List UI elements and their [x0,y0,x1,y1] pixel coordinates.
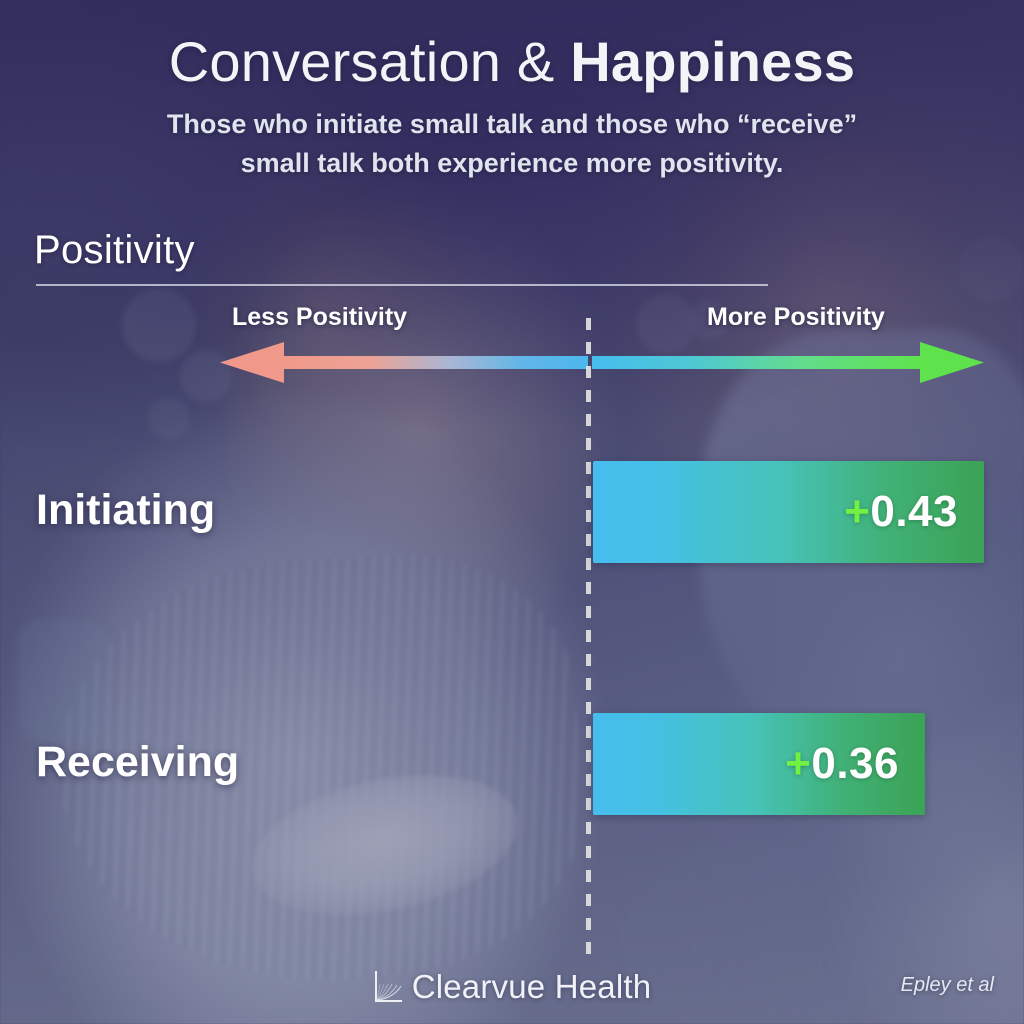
clearvue-logo-icon [373,970,403,1004]
bar-value-initiating: +0.43 [844,487,984,537]
infographic-canvas: Conversation & Happiness Those who initi… [0,0,1024,1024]
title-regular-part: Conversation & [169,30,570,93]
category-label-receiving: Receiving [36,738,239,787]
bar-initiating[interactable]: +0.43 [593,461,984,563]
axis-label-less-positivity: Less Positivity [232,303,407,332]
bar-value-number: 0.43 [870,487,958,536]
zero-baseline-dashed [586,318,591,958]
left-arrow-icon [220,342,588,383]
category-label-initiating: Initiating [36,486,215,535]
brand-name: Clearvue Health [412,968,652,1006]
section-divider [36,284,768,286]
bar-value-receiving: +0.36 [785,739,925,789]
section-heading: Positivity [34,228,195,273]
bar-value-number: 0.36 [811,739,899,788]
bar-value-sign: + [785,739,811,788]
title-bold-part: Happiness [570,30,855,93]
subtitle-line-1: Those who initiate small talk and those … [0,105,1024,144]
citation-source: Epley et al [901,974,994,997]
bar-receiving[interactable]: +0.36 [593,713,925,815]
right-arrow-icon [592,342,984,383]
page-subtitle: Those who initiate small talk and those … [0,105,1024,183]
axis-arrows [0,340,1024,388]
page-title: Conversation & Happiness [0,32,1024,92]
bar-value-sign: + [844,487,870,536]
brand-footer[interactable]: Clearvue Health [0,968,1024,1006]
subtitle-line-2: small talk both experience more positivi… [0,144,1024,183]
axis-label-more-positivity: More Positivity [707,303,885,332]
